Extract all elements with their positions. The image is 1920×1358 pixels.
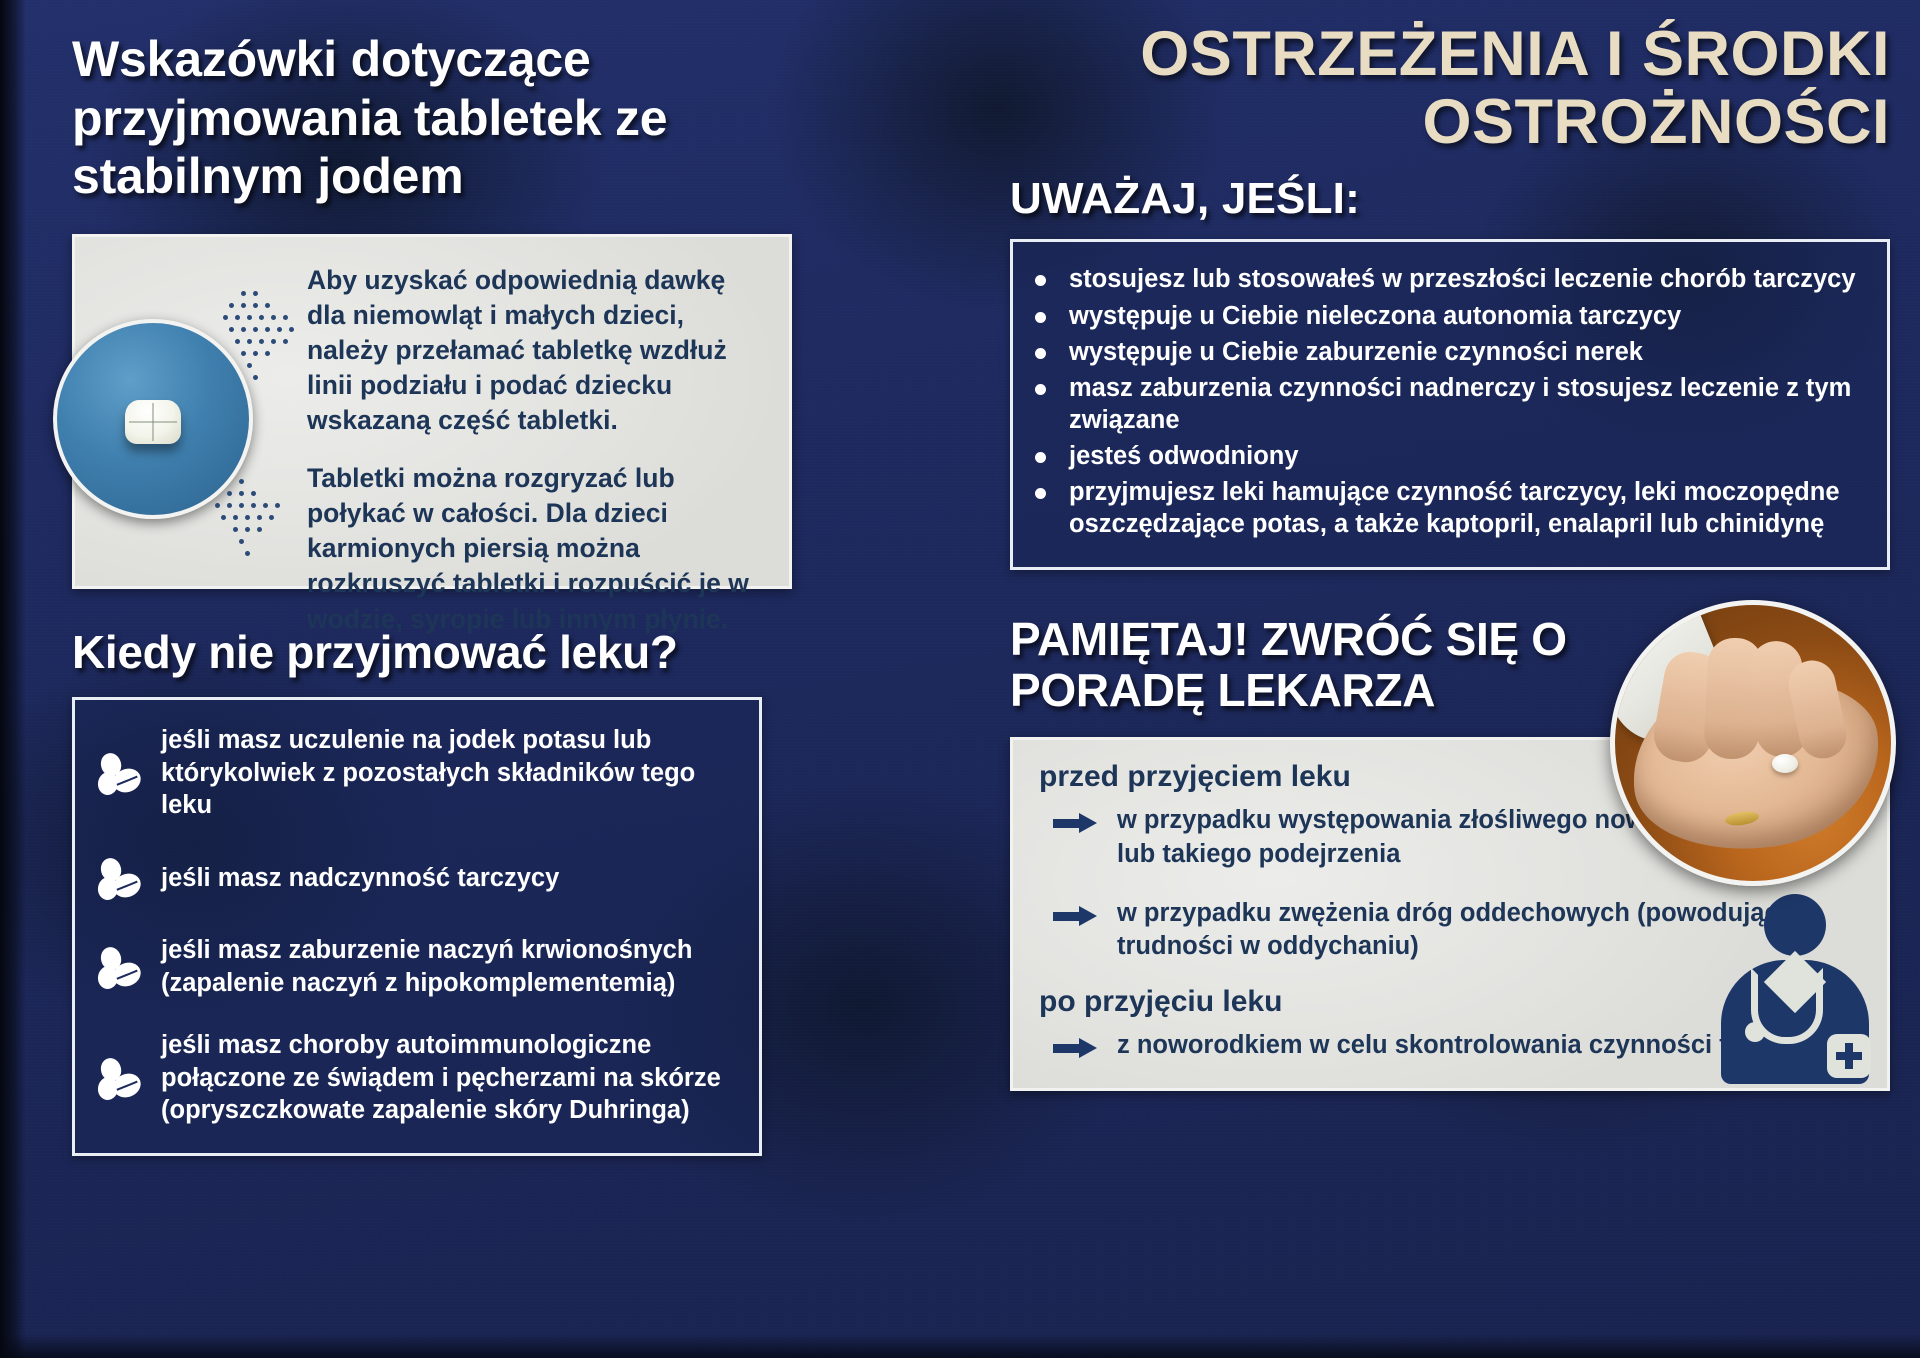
dosage-paragraph-1: Aby uzyskać odpowiednią dawkę dla niemow… xyxy=(307,263,765,439)
list-item-label: jeśli masz zaburzenie naczyń krwionośnyc… xyxy=(161,934,737,999)
page-left-shadow xyxy=(0,0,26,1358)
dosage-info-panel: Aby uzyskać odpowiednią dawkę dla niemow… xyxy=(72,234,792,589)
pills-icon xyxy=(97,1058,143,1104)
hand-with-pill-photo xyxy=(1610,600,1896,886)
remember-title: PAMIĘTAJ! ZWRÓĆ SIĘ O PORADĘ LEKARZA xyxy=(1010,614,1570,715)
page-bottom-shadow xyxy=(0,1334,1920,1358)
list-item: jeśli masz zaburzenie naczyń krwionośnyc… xyxy=(97,934,737,999)
warnings-title: OSTRZEŻENIA I ŚRODKI OSTROŻNOŚCI xyxy=(1010,20,1890,156)
warnings-panel: stosujesz lub stosowałeś w przeszłości l… xyxy=(1010,239,1890,570)
warnings-subtitle: UWAŻAJ, JEŚLI: xyxy=(1010,174,1890,223)
list-item: jesteś odwodniony xyxy=(1017,441,1867,472)
dotted-arrow-icon-bottom xyxy=(215,479,305,559)
tablet-shape xyxy=(125,400,181,444)
list-item: masz zaburzenia czynności nadnerczy i st… xyxy=(1017,373,1867,436)
list-item-label: jeśli masz uczulenie na jodek potasu lub… xyxy=(161,724,737,822)
doctor-icon xyxy=(1709,894,1881,1084)
dosage-info-text: Aby uzyskać odpowiednią dawkę dla niemow… xyxy=(307,263,765,637)
list-item: jeśli masz uczulenie na jodek potasu lub… xyxy=(97,724,737,822)
list-item: jeśli masz nadczynność tarczycy xyxy=(97,852,737,904)
list-item: stosujesz lub stosowałeś w przeszłości l… xyxy=(1017,264,1867,295)
pills-icon xyxy=(97,858,143,904)
contraindications-list: jeśli masz uczulenie na jodek potasu lub… xyxy=(97,724,737,1127)
left-column: Wskazówki dotyczące przyjmowania tablete… xyxy=(72,30,792,1156)
list-item-label: jeśli masz nadczynność tarczycy xyxy=(161,862,559,895)
list-item: jeśli masz choroby autoimmunologiczne po… xyxy=(97,1029,737,1127)
left-title: Wskazówki dotyczące przyjmowania tablete… xyxy=(72,30,792,206)
list-item: występuje u Ciebie zaburzenie czynności … xyxy=(1017,337,1867,368)
list-item: występuje u Ciebie nieleczona autonomia … xyxy=(1017,301,1867,332)
list-item-label: jeśli masz choroby autoimmunologiczne po… xyxy=(161,1029,737,1127)
pills-icon xyxy=(97,947,143,993)
pills-icon xyxy=(97,753,143,799)
contraindications-panel: jeśli masz uczulenie na jodek potasu lub… xyxy=(72,697,762,1156)
list-item: przyjmujesz leki hamujące czynność tarcz… xyxy=(1017,477,1867,540)
arrow-right-icon xyxy=(1053,813,1099,833)
arrow-right-icon xyxy=(1053,1038,1099,1058)
dotted-arrow-icon-top xyxy=(223,291,313,383)
arrow-right-icon xyxy=(1053,906,1099,926)
dosage-paragraph-2: Tabletki można rozgryzać lub połykać w c… xyxy=(307,461,765,637)
warnings-list: stosujesz lub stosowałeś w przeszłości l… xyxy=(1017,264,1867,540)
infographic-page: Wskazówki dotyczące przyjmowania tablete… xyxy=(0,0,1920,1358)
right-column: OSTRZEŻENIA I ŚRODKI OSTROŻNOŚCI UWAŻAJ,… xyxy=(1010,20,1890,1091)
